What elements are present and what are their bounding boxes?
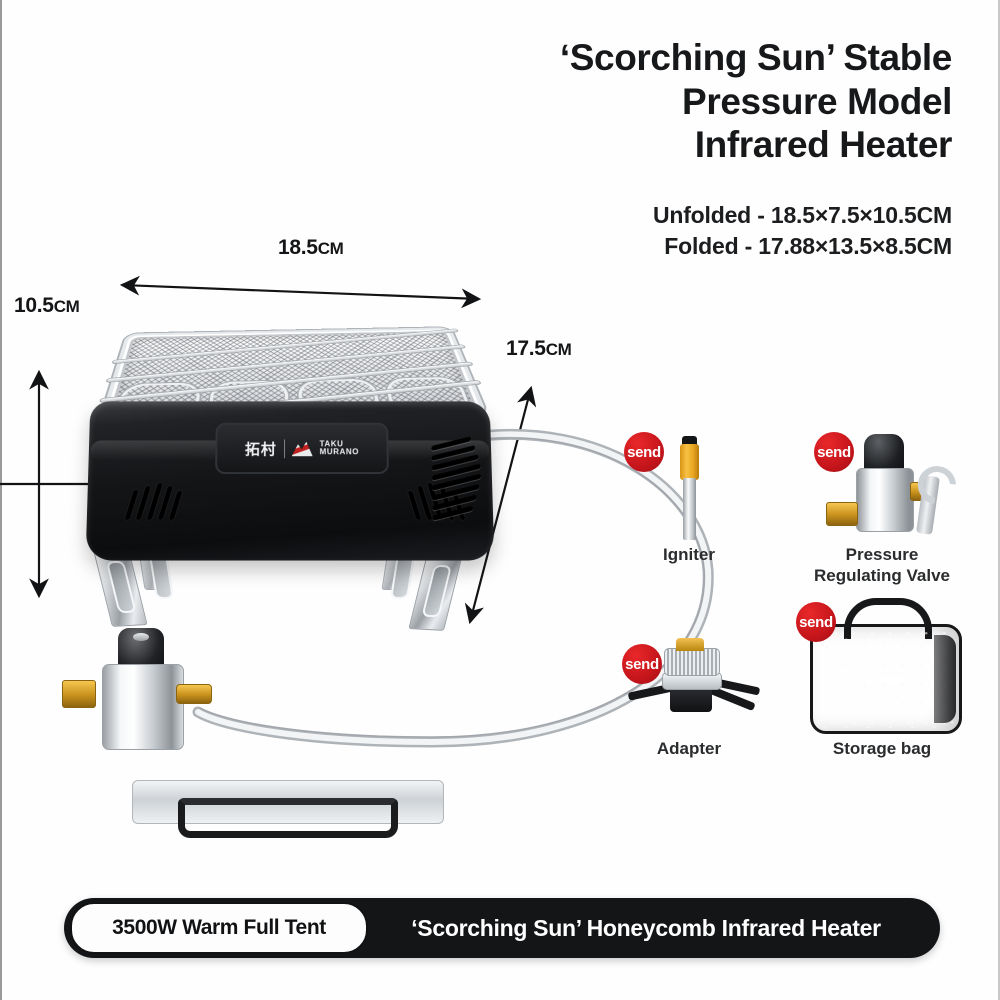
storage-bag-illustration: send xyxy=(788,598,976,738)
width-arrow xyxy=(122,285,479,299)
bag-zipper xyxy=(934,635,956,723)
regulator-brass-port-right xyxy=(176,684,212,704)
dimension-height-label: 10.5CM xyxy=(14,294,80,318)
adapter-knurled-collar xyxy=(664,648,720,676)
brand-divider xyxy=(284,439,285,458)
infrared-heater-product: 拓村 TAKU MURANO xyxy=(80,300,500,640)
accessory-label-valve-line-1: Pressure xyxy=(792,544,972,565)
bottom-banner: 3500W Warm Full Tent ‘Scorching Sun’ Hon… xyxy=(64,898,940,958)
send-badge-valve: send xyxy=(814,432,854,472)
send-badge-adapter: send xyxy=(622,644,662,684)
accessory-igniter: send Igniter xyxy=(614,432,764,565)
valve-illustration: send xyxy=(792,432,972,544)
brand-badge: 拓村 TAKU MURANO xyxy=(215,423,389,474)
spec-folded: Folded - 17.88×13.5×8.5CM xyxy=(392,231,952,262)
attached-regulator xyxy=(88,628,208,758)
heater-leg-front-right xyxy=(408,549,463,631)
brand-name-en: TAKU MURANO xyxy=(320,440,360,457)
dimension-depth-label: 17.5CM xyxy=(506,337,572,361)
accessory-label-adapter: Adapter xyxy=(614,738,764,759)
dimension-width-label: 18.5CM xyxy=(278,236,344,260)
send-badge-igniter: send xyxy=(624,432,664,472)
accessory-pressure-regulating-valve: send Pressure Regulating Valve xyxy=(792,432,972,586)
regulator-brass-port-left xyxy=(62,680,96,708)
accessory-label-storage-bag: Storage bag xyxy=(788,738,976,759)
brand-en-line-2: MURANO xyxy=(320,448,360,456)
adapter-illustration: send xyxy=(614,630,764,738)
title-line-1: ‘Scorching Sun’ Stable xyxy=(392,36,952,80)
accessory-storage-bag: send Storage bag xyxy=(788,598,976,759)
valve-brass-port-left xyxy=(826,502,858,526)
brand-name-cn: 拓村 xyxy=(245,438,277,459)
bag-body xyxy=(810,624,962,734)
igniter-illustration: send xyxy=(614,432,764,544)
igniter-yellow-head xyxy=(680,444,699,480)
accessory-adapter: send Adapter xyxy=(614,630,764,759)
valve-body xyxy=(856,468,914,532)
banner-product-name: ‘Scorching Sun’ Honeycomb Infrared Heate… xyxy=(368,915,940,942)
product-specs: Unfolded - 18.5×7.5×10.5CM Folded - 17.8… xyxy=(392,200,952,262)
regulator-body xyxy=(102,664,184,750)
heater-handle xyxy=(178,798,398,838)
mountain-logo-icon xyxy=(292,440,313,456)
igniter-rod xyxy=(683,478,696,540)
accessory-label-valve-line-2: Regulating Valve xyxy=(792,565,972,586)
product-infographic: ‘Scorching Sun’ Stable Pressure Model In… xyxy=(0,0,1000,1000)
front-vents-left xyxy=(124,474,187,520)
product-title: ‘Scorching Sun’ Stable Pressure Model In… xyxy=(392,36,952,167)
bag-logo-icon xyxy=(865,677,904,684)
spec-unfolded: Unfolded - 18.5×7.5×10.5CM xyxy=(392,200,952,231)
title-line-2: Pressure Model xyxy=(392,80,952,124)
side-vents-right xyxy=(431,401,488,553)
accessory-label-igniter: Igniter xyxy=(614,544,764,565)
send-badge-bag: send xyxy=(796,602,836,642)
wrench-icon xyxy=(916,475,940,535)
adapter-brass-top xyxy=(676,638,704,651)
heater-body: 拓村 TAKU MURANO xyxy=(86,401,495,560)
banner-power-pill: 3500W Warm Full Tent xyxy=(70,902,368,954)
title-line-3: Infrared Heater xyxy=(392,123,952,167)
